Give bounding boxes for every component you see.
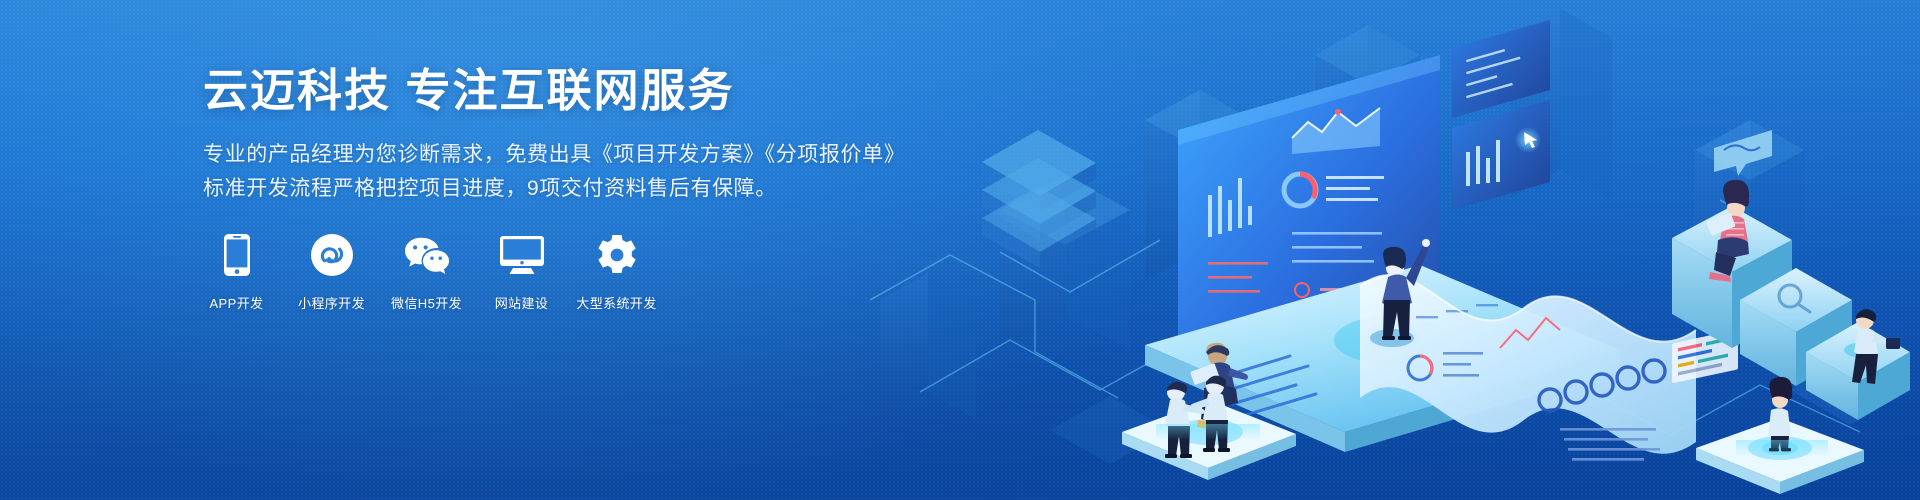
hero-illustration bbox=[860, 0, 1920, 500]
service-label: 小程序开发 bbox=[298, 293, 365, 312]
step-blocks bbox=[1672, 206, 1910, 420]
service-list: APP开发 小程序开发 bbox=[200, 232, 653, 312]
service-item-app[interactable]: APP开发 bbox=[200, 232, 273, 312]
person-seated-laptop bbox=[1190, 343, 1248, 431]
subtitle-line-2: 标准开发流程严格把控项目进度，9项交付资料售后有保障。 bbox=[203, 172, 903, 206]
side-panel-bottom bbox=[1452, 100, 1550, 210]
service-item-mini-program[interactable]: 小程序开发 bbox=[295, 232, 368, 312]
server-stack bbox=[982, 130, 1096, 268]
subtitle-line-1: 专业的产品经理为您诊断需求，免费出具《项目开发方案》《分项报价单》 bbox=[203, 143, 905, 166]
floating-tablet-left bbox=[1122, 400, 1296, 480]
wechat-icon bbox=[404, 232, 450, 278]
dashboard-screen bbox=[1178, 55, 1440, 375]
gear-icon bbox=[594, 232, 640, 278]
mini-program-icon bbox=[309, 232, 355, 278]
service-label: 微信H5开发 bbox=[391, 293, 462, 312]
service-item-website[interactable]: 网站建设 bbox=[485, 232, 558, 312]
person-pair-handshake bbox=[1165, 376, 1230, 458]
service-label: 大型系统开发 bbox=[576, 293, 656, 312]
magnifier-icon bbox=[1779, 285, 1810, 312]
donut-chart bbox=[1284, 174, 1316, 206]
city-blocks bbox=[880, 8, 1910, 464]
person-presenter bbox=[1370, 239, 1430, 347]
floating-tablet-right bbox=[1696, 418, 1864, 494]
code-block bbox=[1672, 329, 1738, 383]
hero-copy: 云迈科技 专注互联网服务 专业的产品经理为您诊断需求，免费出具《项目开发方案》《… bbox=[203, 66, 903, 206]
service-label: APP开发 bbox=[209, 293, 263, 312]
person-woman-laptop bbox=[1706, 130, 1772, 282]
data-ribbon bbox=[1360, 275, 1738, 460]
page-title: 云迈科技 专注互联网服务 bbox=[203, 66, 903, 116]
hero-subtitle: 专业的产品经理为您诊断需求，免费出具《项目开发方案》《分项报价单》 标准开发流程… bbox=[203, 138, 903, 206]
person-walking bbox=[1852, 309, 1900, 384]
circuit-lines bbox=[870, 200, 1860, 435]
person-standing-tablet bbox=[1762, 377, 1798, 455]
service-item-large-system[interactable]: 大型系统开发 bbox=[580, 232, 653, 312]
chat-bubble bbox=[1714, 130, 1772, 176]
hero-banner: 云迈科技 专注互联网服务 专业的产品经理为您诊断需求，免费出具《项目开发方案》《… bbox=[0, 0, 1920, 500]
phone-icon bbox=[214, 232, 260, 278]
tablet-platform bbox=[1145, 265, 1620, 452]
service-label: 网站建设 bbox=[495, 293, 549, 312]
service-item-wechat-h5[interactable]: 微信H5开发 bbox=[390, 232, 463, 312]
monitor-icon bbox=[499, 232, 545, 278]
side-panel-top bbox=[1452, 20, 1550, 118]
